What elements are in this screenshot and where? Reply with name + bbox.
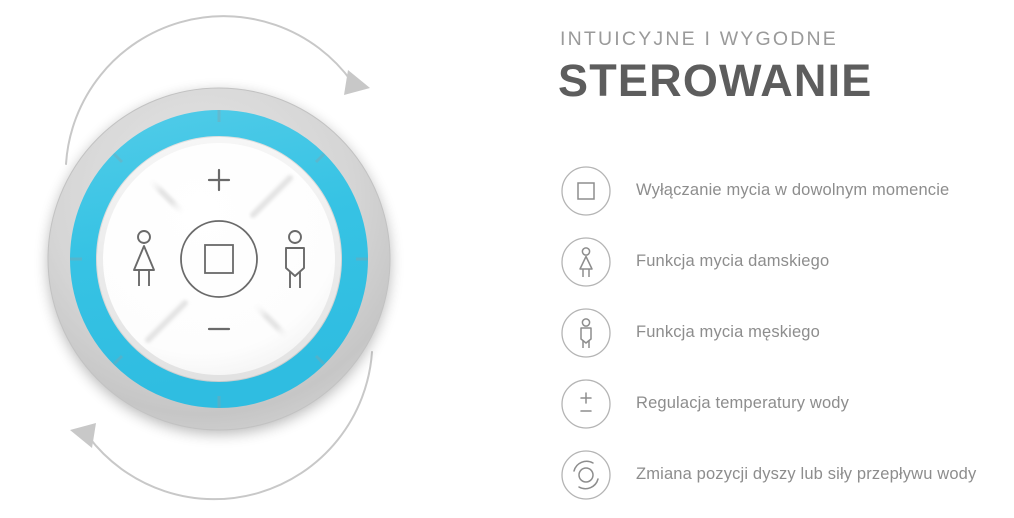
list-item-label: Regulacja temperatury wody	[636, 394, 849, 413]
list-item: Regulacja temperatury wody	[558, 368, 1014, 439]
page-title: STEROWANIE	[558, 55, 873, 107]
list-item: Funkcja mycia damskiego	[558, 226, 1014, 297]
eyebrow-text: INTUICYJNE I WYGODNE	[560, 28, 838, 51]
list-item: Zmiana pozycji dyszy lub siły przepływu …	[558, 439, 1014, 510]
remote-dial-illustration	[0, 0, 500, 518]
list-item-label: Funkcja mycia damskiego	[636, 252, 829, 271]
list-item: Wyłączanie mycia w dowolnym momencie	[558, 155, 1014, 226]
nozzle-flow-icon	[560, 449, 612, 501]
infographic-page: INTUICYJNE I WYGODNE STEROWANIE Wyłączan…	[0, 0, 1014, 518]
list-item-label: Zmiana pozycji dyszy lub siły przepływu …	[636, 465, 976, 484]
feature-list: Wyłączanie mycia w dowolnym momencie Fun…	[558, 155, 1014, 510]
info-panel: INTUICYJNE I WYGODNE STEROWANIE Wyłączan…	[558, 0, 1014, 518]
dial-graphic	[0, 0, 500, 518]
plus-minus-icon	[560, 378, 612, 430]
female-figure-icon	[560, 236, 612, 288]
list-item: Funkcja mycia męskiego	[558, 297, 1014, 368]
male-figure-icon	[560, 307, 612, 359]
list-item-label: Funkcja mycia męskiego	[636, 323, 820, 342]
list-item-label: Wyłączanie mycia w dowolnym momencie	[636, 181, 949, 200]
stop-square-icon	[560, 165, 612, 217]
